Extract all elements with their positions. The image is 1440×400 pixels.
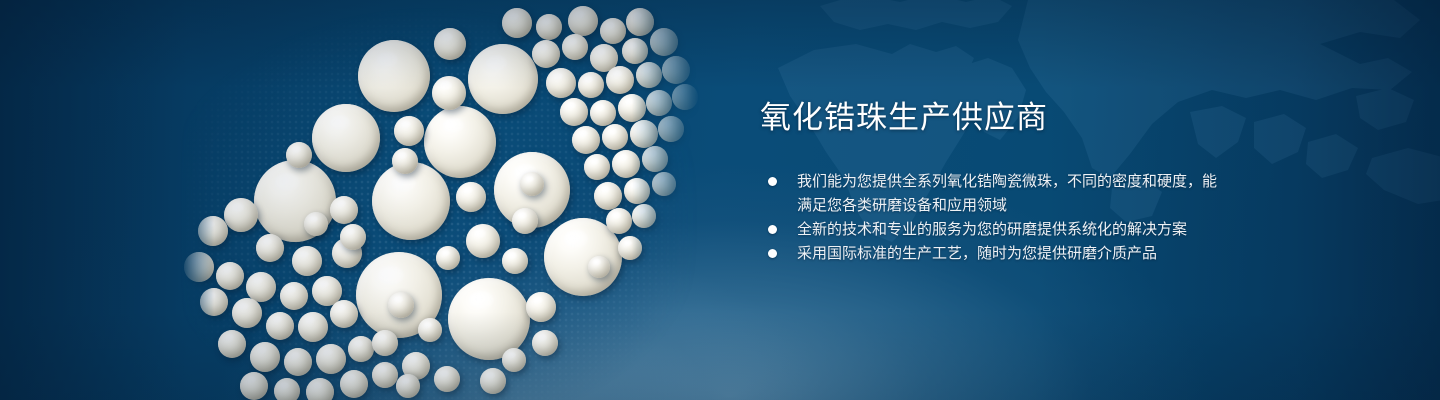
list-item: 全新的技术和专业的服务为您的研磨提供系统化的解决方案 xyxy=(768,218,1230,242)
bullet-dot-icon xyxy=(768,225,777,234)
list-item-label: 我们能为您提供全系列氧化锆陶瓷微珠，不同的密度和硬度，能满足您各类研磨设备和应用… xyxy=(797,173,1217,214)
list-item-label: 全新的技术和专业的服务为您的研磨提供系统化的解决方案 xyxy=(797,221,1187,238)
bullet-dot-icon xyxy=(768,249,777,258)
page-title: 氧化锆珠生产供应商 xyxy=(760,100,1230,136)
list-item: 我们能为您提供全系列氧化锆陶瓷微珠，不同的密度和硬度，能满足您各类研磨设备和应用… xyxy=(768,170,1230,217)
bullet-dot-icon xyxy=(768,177,777,186)
list-item: 采用国际标准的生产工艺，随时为您提供研磨介质产品 xyxy=(768,242,1230,266)
hero-banner: 氧化锆珠生产供应商 我们能为您提供全系列氧化锆陶瓷微珠，不同的密度和硬度，能满足… xyxy=(0,0,1440,400)
feature-list: 我们能为您提供全系列氧化锆陶瓷微珠，不同的密度和硬度，能满足您各类研磨设备和应用… xyxy=(768,170,1230,265)
banner-copy: 氧化锆珠生产供应商 我们能为您提供全系列氧化锆陶瓷微珠，不同的密度和硬度，能满足… xyxy=(760,100,1230,266)
list-item-label: 采用国际标准的生产工艺，随时为您提供研磨介质产品 xyxy=(797,245,1157,262)
